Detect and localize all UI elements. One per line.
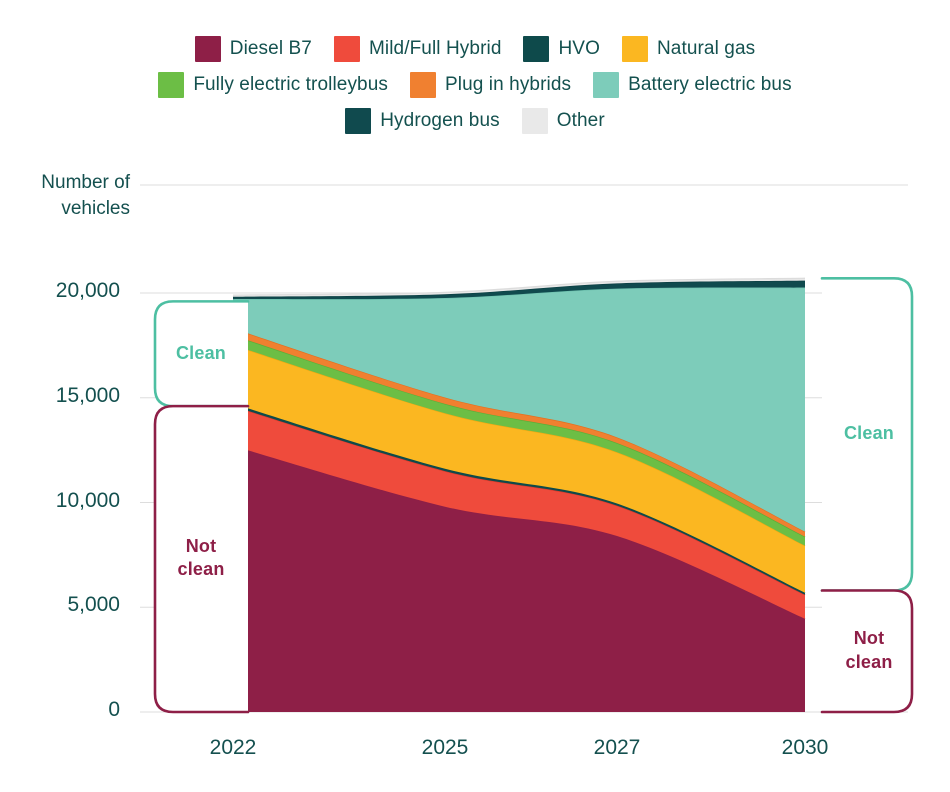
x-axis-tick-label: 2027 (557, 736, 677, 760)
y-axis-tick-label: 5,000 (8, 593, 120, 617)
plot-area (0, 0, 950, 792)
bracket-label-clean-right: Clean (826, 422, 912, 445)
y-axis-tick-label: 15,000 (8, 384, 120, 408)
bracket-label-line1: Not (826, 627, 912, 650)
area-series-group (233, 278, 805, 712)
x-axis-tick-label: 2030 (745, 736, 865, 760)
y-axis-tick-label: 20,000 (8, 279, 120, 303)
plot-svg (0, 0, 950, 792)
bracket-label-line2: clean (826, 651, 912, 674)
bracket-label-clean-left: Clean (158, 342, 244, 365)
bracket-label-not-clean-left: Notclean (158, 535, 244, 582)
stacked-area-chart: Diesel B7 Mild/Full Hybrid HVO Natural g… (0, 0, 950, 792)
y-axis-tick-label: 10,000 (8, 489, 120, 513)
bracket-label-line2: clean (158, 558, 244, 581)
x-axis-tick-label: 2022 (173, 736, 293, 760)
y-axis-tick-label: 0 (8, 698, 120, 722)
x-axis-tick-label: 2025 (385, 736, 505, 760)
bracket-label-line1: Not (158, 535, 244, 558)
bracket-label-not-clean-right: Notclean (826, 627, 912, 674)
